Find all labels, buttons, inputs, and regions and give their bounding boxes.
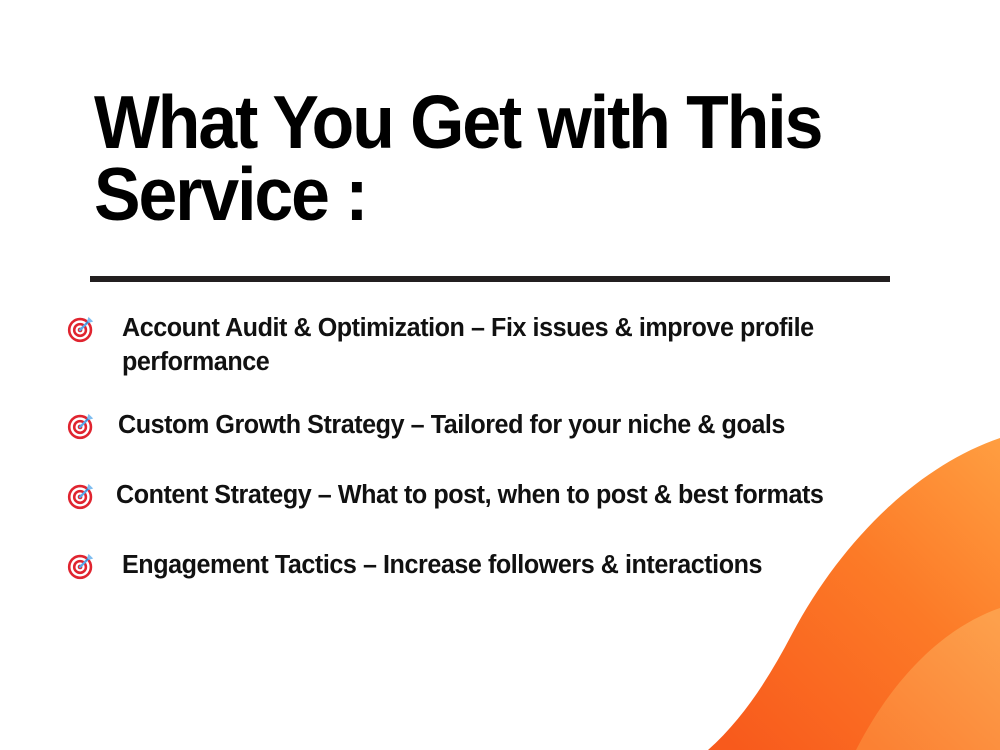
- list-item: Account Audit & Optimization – Fix issue…: [66, 312, 956, 379]
- title-divider: [90, 276, 890, 282]
- target-dart-icon: [66, 411, 96, 441]
- orange-blob-secondary: [856, 608, 1000, 750]
- title-block: What You Get with This Service :: [94, 86, 914, 230]
- list-item-label: Engagement Tactics – Increase followers …: [122, 549, 762, 583]
- list-item: Engagement Tactics – Increase followers …: [66, 549, 956, 583]
- list-item: Content Strategy – What to post, when to…: [66, 479, 956, 513]
- page-title: What You Get with This Service :: [94, 86, 857, 230]
- list-item-label: Custom Growth Strategy – Tailored for yo…: [118, 409, 785, 443]
- target-dart-icon: [66, 481, 96, 511]
- list-item-label: Account Audit & Optimization – Fix issue…: [122, 312, 890, 379]
- target-dart-icon: [66, 551, 96, 581]
- benefits-list: Account Audit & Optimization – Fix issue…: [66, 312, 956, 582]
- target-dart-icon: [66, 314, 96, 344]
- list-item-label: Content Strategy – What to post, when to…: [116, 479, 823, 513]
- slide-canvas: What You Get with This Service : Account…: [0, 0, 1000, 750]
- list-item: Custom Growth Strategy – Tailored for yo…: [66, 409, 956, 443]
